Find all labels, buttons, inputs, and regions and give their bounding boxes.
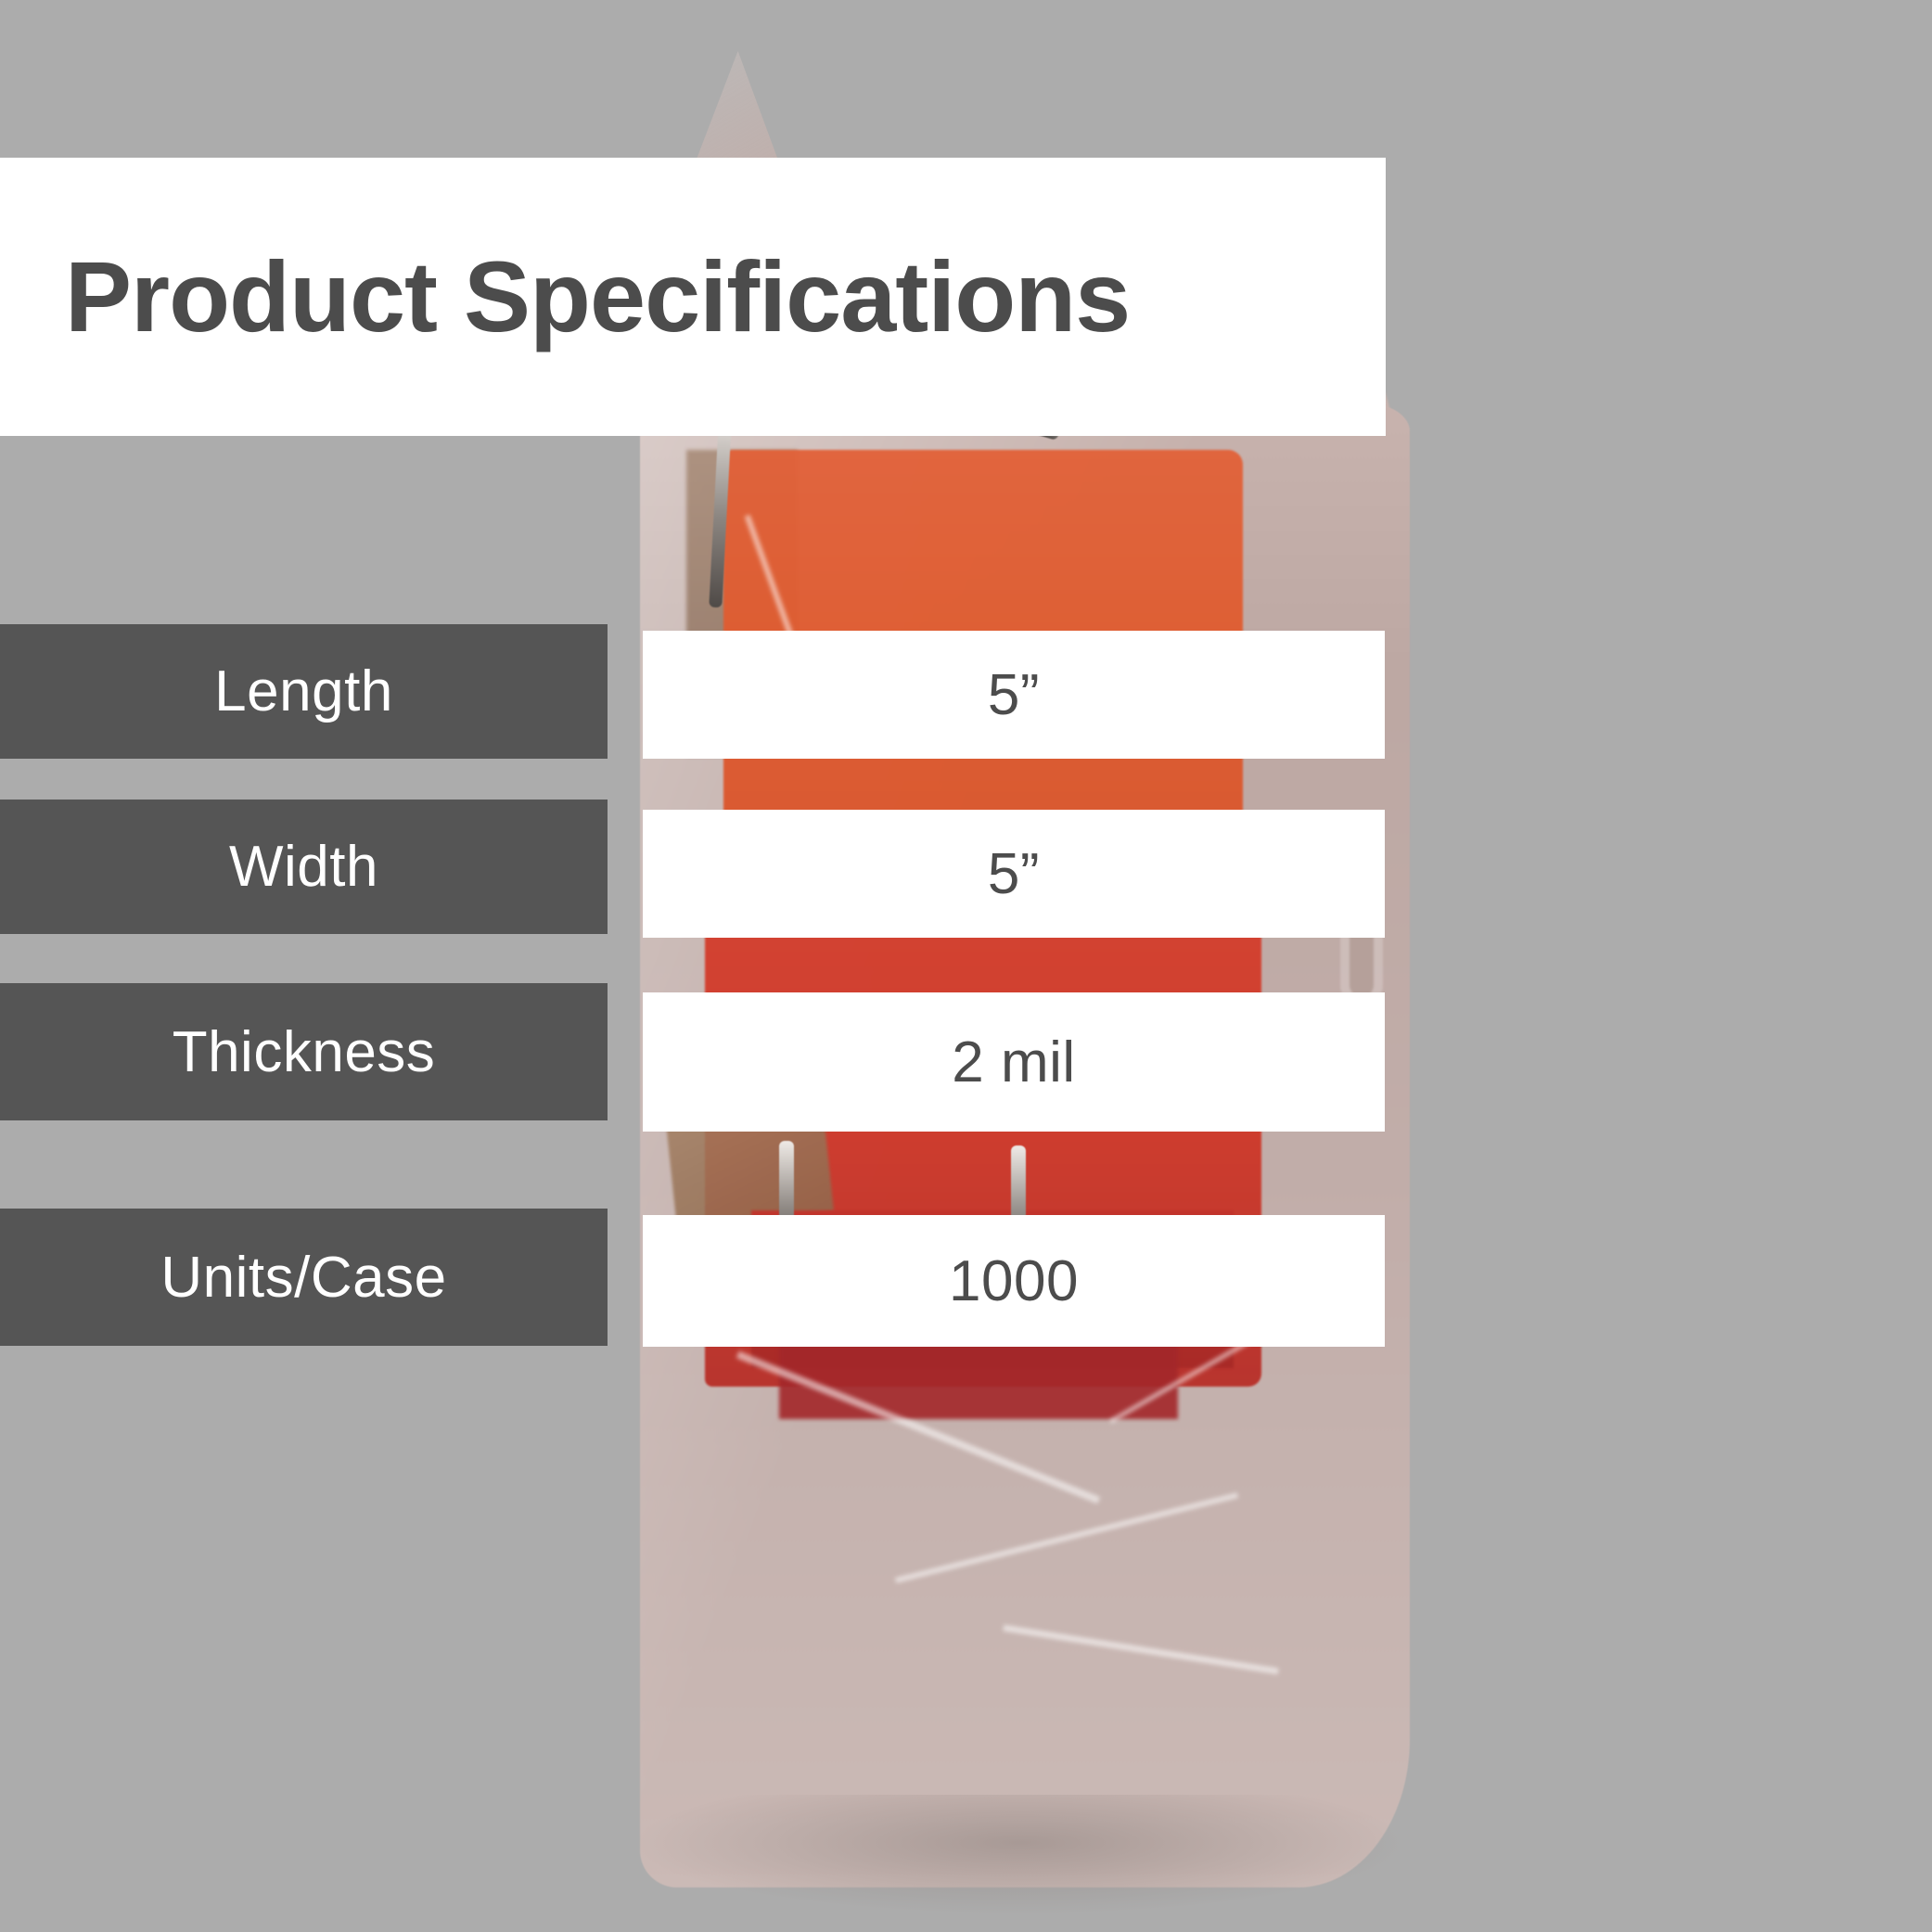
spec-value-length: 5” [643,631,1385,759]
spec-label-width: Width [0,800,608,934]
spec-label-units-per-case: Units/Case [0,1209,608,1346]
spec-value-thickness: 2 mil [643,992,1385,1132]
spec-card: Product Specifications Length 5” Width 5… [0,0,1932,1932]
spec-value-width: 5” [643,810,1385,938]
page-title: Product Specifications [65,247,1130,347]
spec-label-thickness: Thickness [0,983,608,1120]
title-banner: Product Specifications [0,158,1386,436]
spec-label-length: Length [0,624,608,759]
bag-drop-shadow [631,1795,1410,1915]
spec-value-units-per-case: 1000 [643,1215,1385,1347]
contents-crimson [779,1345,1178,1419]
